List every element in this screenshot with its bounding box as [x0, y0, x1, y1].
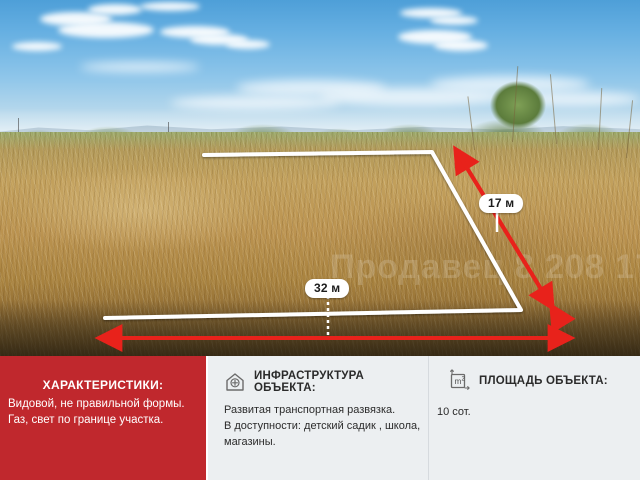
area-title: ПЛОЩАДЬ ОБЪЕКТА:: [479, 375, 608, 387]
characteristics-line-2: Газ, свет по границе участка.: [8, 412, 206, 428]
infrastructure-line-3: магазины.: [224, 434, 430, 450]
plot-outline-overlay: [0, 0, 640, 356]
area-value: 10 сот.: [437, 404, 471, 420]
area-header: m 2 ПЛОЩАДЬ ОБЪЕКТА:: [445, 368, 608, 394]
area-m2-icon: m 2: [445, 368, 471, 394]
infrastructure-title: ИНФРАСТРУКТУРА ОБЪЕКТА:: [254, 370, 428, 394]
dimension-label-17m: 17 м: [479, 194, 523, 213]
characteristics-body: Видовой, не правильной формы. Газ, свет …: [8, 396, 206, 428]
infrastructure-line-1: Развитая транспортная развязка.: [224, 402, 430, 418]
panel-characteristics: ХАРАКТЕРИСТИКИ: Видовой, не правильной ф…: [0, 356, 206, 480]
listing-image: Продавец 8 208 172 49 11: [0, 0, 640, 480]
infrastructure-header: ИНФРАСТРУКТУРА ОБЪЕКТА:: [224, 370, 428, 394]
panel-area: m 2 ПЛОЩАДЬ ОБЪЕКТА: 10 сот.: [428, 356, 640, 480]
property-photo: Продавец 8 208 172 49 11: [0, 0, 640, 356]
infrastructure-body: Развитая транспортная развязка. В доступ…: [224, 402, 430, 450]
infrastructure-line-2: В доступности: детский садик , школа,: [224, 418, 430, 434]
info-bar: Продавец 8 208 172 49 11 ХАРАКТЕРИСТИКИ:…: [0, 356, 640, 480]
dimension-label-32m: 32 м: [305, 279, 349, 298]
house-plus-icon: [224, 371, 246, 393]
characteristics-title: ХАРАКТЕРИСТИКИ:: [0, 378, 206, 392]
characteristics-line-1: Видовой, не правильной формы.: [8, 396, 206, 412]
panel-infrastructure: ИНФРАСТРУКТУРА ОБЪЕКТА: Развитая транспо…: [206, 356, 428, 480]
